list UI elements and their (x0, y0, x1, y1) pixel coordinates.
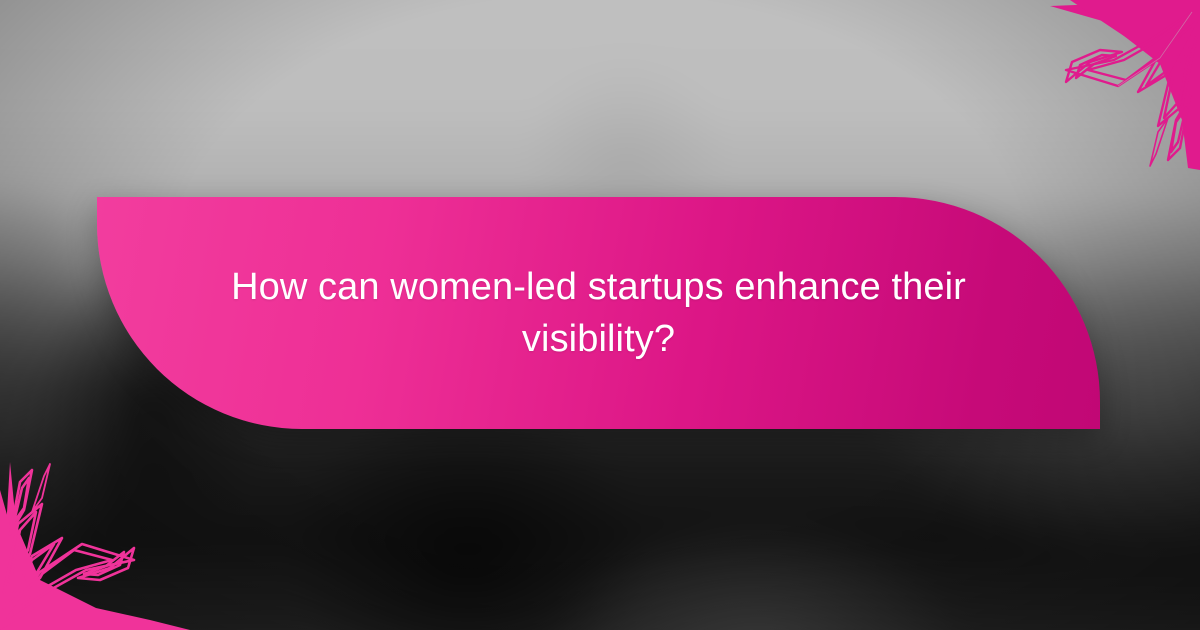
share-card-canvas: How can women-led startups enhance their… (0, 0, 1200, 630)
page-title: How can women-led startups enhance their… (179, 261, 1019, 365)
headline-banner: How can women-led startups enhance their… (97, 197, 1100, 429)
